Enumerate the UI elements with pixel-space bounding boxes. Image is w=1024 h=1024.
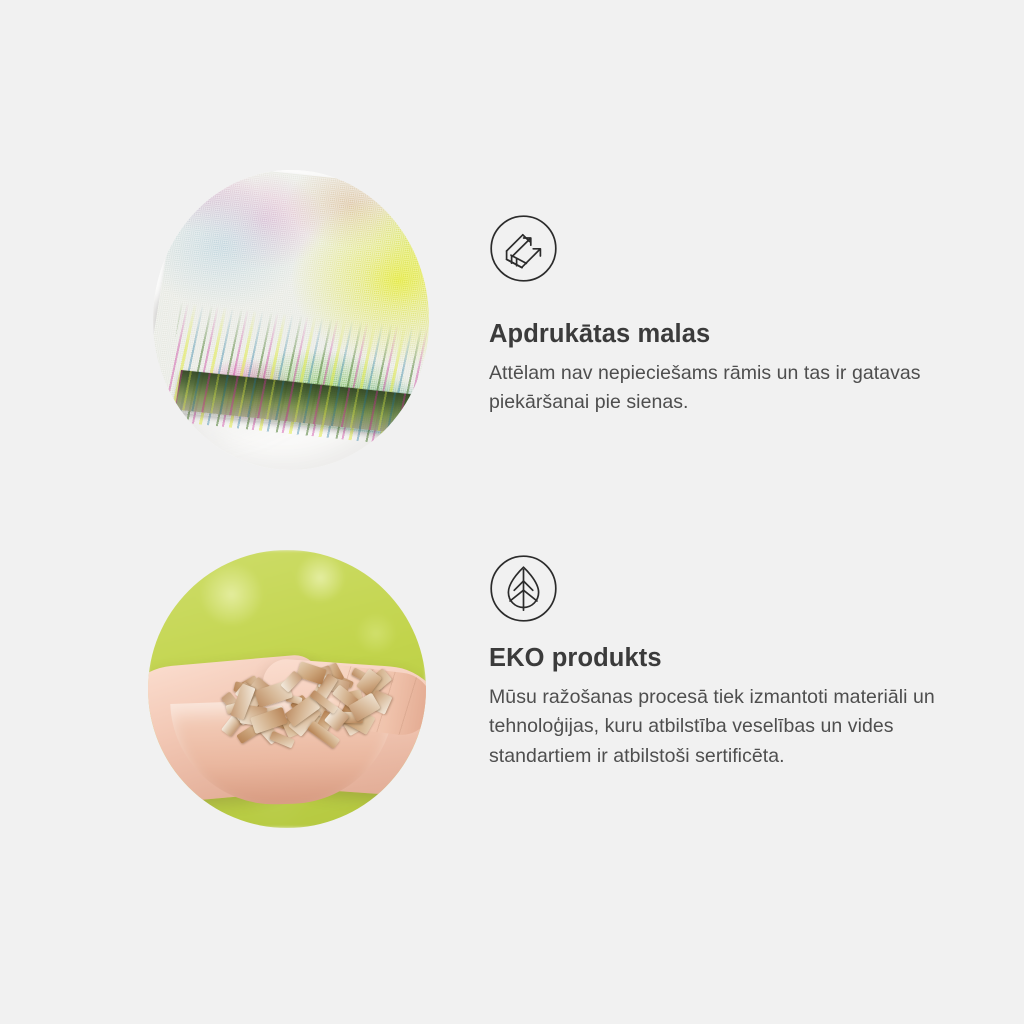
feature-title: EKO produkts: [489, 643, 979, 674]
feature-row-printed-edges: Apdrukātas malas Attēlam nav nepieciešam…: [0, 150, 1024, 500]
feature-title: Apdrukātas malas: [489, 319, 969, 350]
wood-chip: [296, 661, 327, 685]
canvas-image-clip: [153, 170, 429, 470]
hands-wood-chips-photo: [148, 550, 426, 828]
feature-content-printed-edges: Apdrukātas malas Attēlam nav nepieciešam…: [489, 214, 969, 418]
feature-description: Attēlam nav nepieciešams rāmis un tas ir…: [489, 359, 949, 418]
feature-panel: Apdrukātas malas Attēlam nav nepieciešam…: [0, 0, 1024, 1024]
canvas-print-corner-photo: [153, 170, 429, 470]
feature-row-eco-product: EKO produkts Mūsu ražošanas procesā tiek…: [0, 520, 1024, 870]
leaf-icon: [489, 554, 558, 623]
feature-description: Mūsu ražošanas procesā tiek izmantoti ma…: [489, 683, 959, 772]
feature-content-eco-product: EKO produkts Mūsu ražošanas procesā tiek…: [489, 554, 979, 771]
wood-chip-pile: [222, 656, 390, 754]
printed-edges-icon: [489, 214, 558, 283]
